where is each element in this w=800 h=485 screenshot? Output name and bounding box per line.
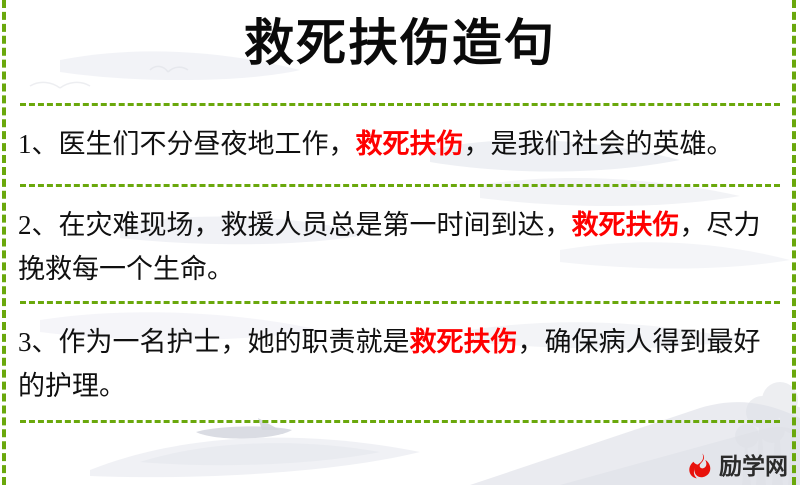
sentence-text-before: 在灾难现场，救援人员总是第一时间到达， — [59, 210, 572, 240]
separator-line-3 — [20, 301, 780, 304]
sentence-item-2: 2、在灾难现场，救援人员总是第一时间到达，救死扶伤，尽力挽救每一个生命。 — [18, 203, 782, 291]
sentence-text-before: 医生们不分昼夜地工作， — [59, 129, 356, 159]
separator-line-4 — [20, 420, 780, 423]
separator-line-2 — [20, 184, 780, 187]
flame-swirl-icon — [685, 451, 715, 481]
page-title: 救死扶伤造句 — [0, 12, 800, 74]
sentence-item-3: 3、作为一名护士，她的职责就是救死扶伤，确保病人得到最好的护理。 — [18, 320, 782, 408]
sentence-text-before: 作为一名护士，她的职责就是 — [59, 327, 410, 357]
idiom-highlight: 救死扶伤 — [356, 129, 464, 159]
slide-page: 救死扶伤造句 1、医生们不分昼夜地工作，救死扶伤，是我们社会的英雄。 2、在灾难… — [0, 0, 800, 485]
idiom-highlight: 救死扶伤 — [410, 327, 518, 357]
logo-text: 励学网 — [719, 452, 788, 480]
site-logo: 励学网 — [685, 451, 788, 481]
sentence-item-1: 1、医生们不分昼夜地工作，救死扶伤，是我们社会的英雄。 — [18, 122, 782, 166]
sentence-index: 1、 — [18, 129, 59, 159]
sentence-index: 3、 — [18, 327, 59, 357]
sentence-text-after: ，是我们社会的英雄。 — [464, 129, 734, 159]
idiom-highlight: 救死扶伤 — [572, 210, 680, 240]
separator-line-1 — [20, 103, 780, 106]
sentence-index: 2、 — [18, 210, 59, 240]
